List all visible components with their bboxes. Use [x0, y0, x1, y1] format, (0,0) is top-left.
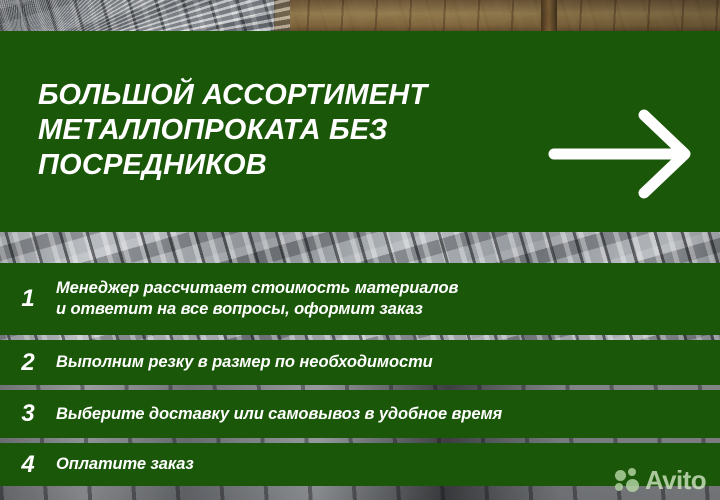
arrow-right-icon: [548, 109, 700, 199]
headline-text: БОЛЬШОЙ АССОРТИМЕНТ МЕТАЛЛОПРОКАТА БЕЗ П…: [38, 78, 538, 183]
step-item-3: 3 Выберите доставку или самовывоз в удоб…: [0, 390, 720, 438]
step-number: 2: [0, 351, 56, 375]
step-text: Выполним резку в размер по необходимости: [56, 352, 433, 373]
avito-watermark: Avito: [615, 468, 706, 492]
hero-banner: БОЛЬШОЙ АССОРТИМЕНТ МЕТАЛЛОПРОКАТА БЕЗ П…: [0, 31, 720, 232]
step-number: 4: [0, 453, 56, 477]
step-item-2: 2 Выполним резку в размер по необходимос…: [0, 340, 720, 385]
step-number: 1: [0, 287, 56, 311]
step-number: 3: [0, 402, 56, 426]
step-item-1: 1 Менеджер рассчитает стоимость материал…: [0, 263, 720, 335]
step-item-4: 4 Оплатите заказ: [0, 443, 720, 486]
avito-dots-icon: [615, 468, 640, 492]
step-text: Менеджер рассчитает стоимость материалов…: [56, 278, 458, 320]
step-text: Оплатите заказ: [56, 454, 194, 475]
advertisement-banner: БОЛЬШОЙ АССОРТИМЕНТ МЕТАЛЛОПРОКАТА БЕЗ П…: [0, 0, 720, 500]
step-text: Выберите доставку или самовывоз в удобно…: [56, 404, 502, 425]
avito-wordmark: Avito: [645, 468, 706, 492]
